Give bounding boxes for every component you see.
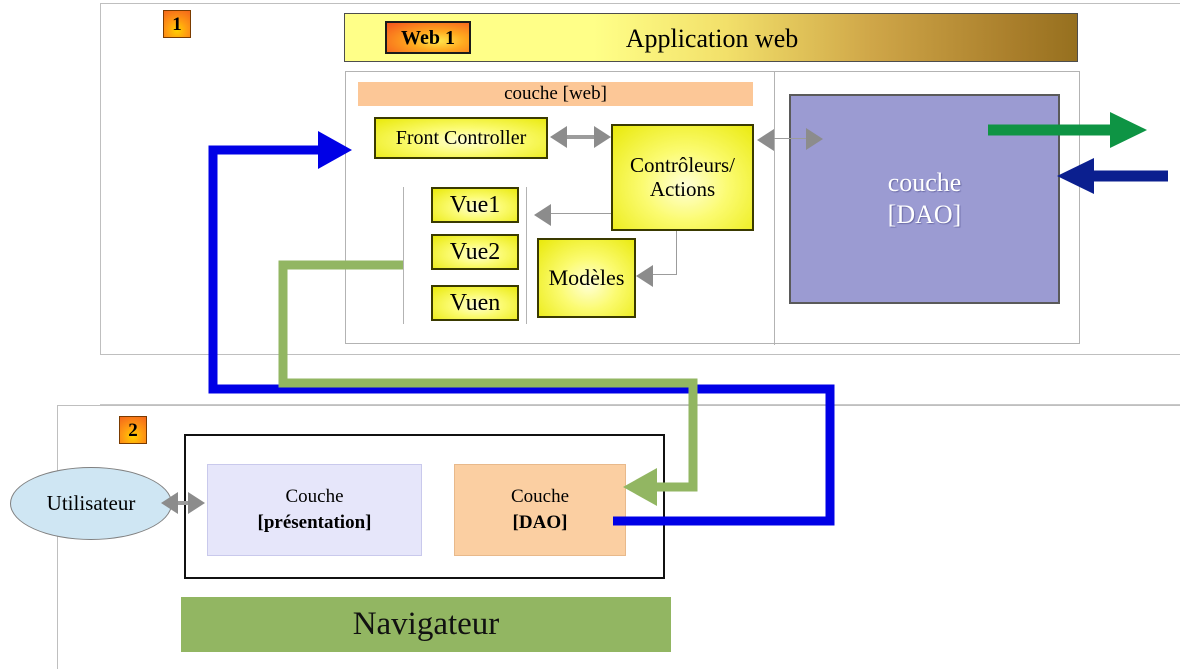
fc-ctrl-connector-shaft: [564, 135, 598, 139]
controllers-line-2: Actions: [630, 178, 735, 202]
front-controller-box[interactable]: Front Controller: [374, 117, 548, 159]
ctrl-models-connector-horizontal: [653, 274, 677, 275]
ctrl-models-connector-vertical: [676, 231, 677, 275]
controllers-line-1: Contrôleurs/: [630, 154, 735, 178]
presentation-line-2: [présentation]: [258, 510, 372, 536]
dao-layer-box[interactable]: couche [DAO]: [789, 94, 1060, 304]
dao-internal-arrowhead: [806, 128, 823, 150]
fc-ctrl-arrowhead-right: [594, 126, 611, 148]
ctrl-views-arrowhead: [534, 204, 551, 226]
application-title-bar: Application web Web 1: [344, 13, 1078, 62]
presentation-layer-box[interactable]: Couche [présentation]: [207, 464, 422, 556]
views-stack: Vue1 Vue2 Vuen: [346, 187, 546, 327]
models-box[interactable]: Modèles: [537, 238, 636, 318]
ctrl-models-arrowhead: [636, 265, 653, 287]
ctrl-views-connector-shaft: [551, 213, 611, 214]
view-box-2[interactable]: Vue2: [431, 234, 519, 270]
fc-ctrl-arrowhead-left: [550, 126, 567, 148]
browser-container: Couche [présentation] Couche [DAO]: [184, 434, 665, 579]
browser-dao-layer-box[interactable]: Couche [DAO]: [454, 464, 626, 556]
dao-ctrl-arrowhead: [757, 129, 774, 151]
browser-dao-line-1: Couche: [511, 484, 569, 510]
user-ellipse[interactable]: Utilisateur: [10, 467, 172, 540]
user-presentation-arrowhead-right: [188, 492, 205, 514]
navigator-bar: Navigateur: [181, 597, 671, 652]
view-box-1[interactable]: Vue1: [431, 187, 519, 223]
section-badge-1: 1: [163, 10, 191, 38]
dao-layer-line-1: couche: [888, 167, 962, 199]
user-presentation-arrowhead-left: [161, 492, 178, 514]
dao-internal-connector-shaft: [776, 138, 806, 139]
web-layer-band: couche [web]: [358, 82, 753, 106]
section-badge-2: 2: [119, 416, 147, 444]
controllers-actions-box[interactable]: Contrôleurs/ Actions: [611, 124, 754, 231]
presentation-line-1: Couche: [285, 484, 343, 510]
dao-layer-line-2: [DAO]: [888, 199, 962, 231]
web-instance-label: Web 1: [385, 21, 471, 54]
web-application-panel: couche [web] Front Controller Contrôleur…: [345, 71, 1080, 344]
view-box-n[interactable]: Vuen: [431, 285, 519, 321]
browser-dao-line-2: [DAO]: [513, 510, 568, 536]
web-dao-divider: [774, 72, 775, 345]
